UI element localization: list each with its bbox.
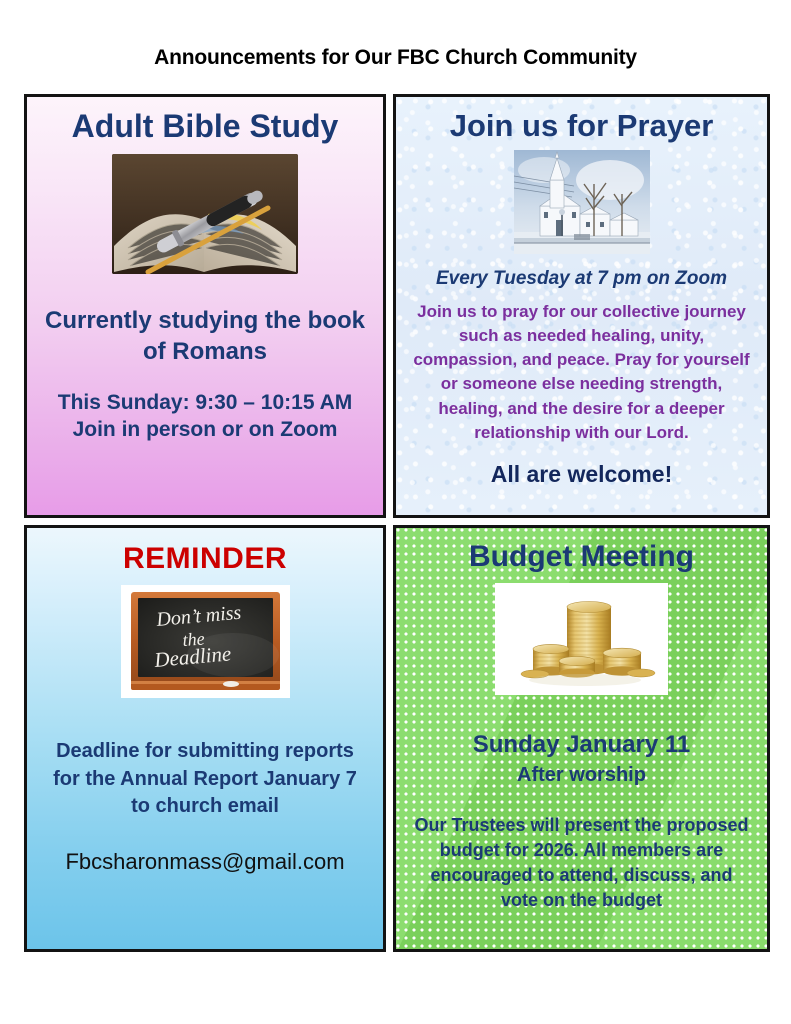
stack-of-gold-coins-photo (495, 583, 668, 695)
white-church-in-snow-photo (514, 150, 650, 254)
panel-adult-bible-study: Adult Bible Study (24, 94, 386, 518)
reminder-heading: REMINDER (27, 542, 383, 576)
bible-study-sub-text: This Sunday: 9:30 – 10:15 AM Join in per… (27, 390, 383, 444)
prayer-body-text: Join us to pray for our collective journ… (396, 300, 767, 445)
budget-meeting-body-text: Our Trustees will present the proposed b… (396, 813, 767, 914)
bible-study-sub-line-2: Join in person or on Zoom (35, 417, 375, 444)
budget-meeting-date: Sunday January 11 (396, 731, 767, 760)
page-title: Announcements for Our FBC Church Communi… (0, 46, 791, 70)
chalkboard-dont-miss-the-deadline: Don’t miss the Deadline (121, 585, 290, 698)
prayer-schedule-text: Every Tuesday at 7 pm on Zoom (396, 268, 767, 290)
panel-join-us-for-prayer: Join us for Prayer (393, 94, 770, 518)
chalkboard-photo-wrap: Don’t miss the Deadline (27, 576, 383, 698)
reminder-email-address[interactable]: Fbcsharonmass@gmail.com (27, 849, 383, 875)
bible-study-sub-line-1: This Sunday: 9:30 – 10:15 AM (35, 390, 375, 417)
announcement-grid: Adult Bible Study (24, 94, 770, 952)
bible-study-main-text: Currently studying the book of Romans (27, 306, 383, 367)
panel-budget-meeting: Budget Meeting (393, 525, 770, 952)
prayer-heading: Join us for Prayer (396, 109, 767, 143)
bible-photo-wrap (27, 144, 383, 274)
budget-meeting-heading: Budget Meeting (396, 540, 767, 573)
open-bible-with-pen-photo (112, 154, 298, 274)
panel-reminder: REMINDER (24, 525, 386, 952)
budget-meeting-time-note: After worship (396, 763, 767, 787)
prayer-welcome-text: All are welcome! (396, 461, 767, 488)
reminder-body-text: Deadline for submitting reports for the … (27, 738, 383, 821)
bible-study-heading: Adult Bible Study (27, 109, 383, 144)
church-photo-wrap (396, 143, 767, 254)
coins-photo-wrap (396, 573, 767, 695)
